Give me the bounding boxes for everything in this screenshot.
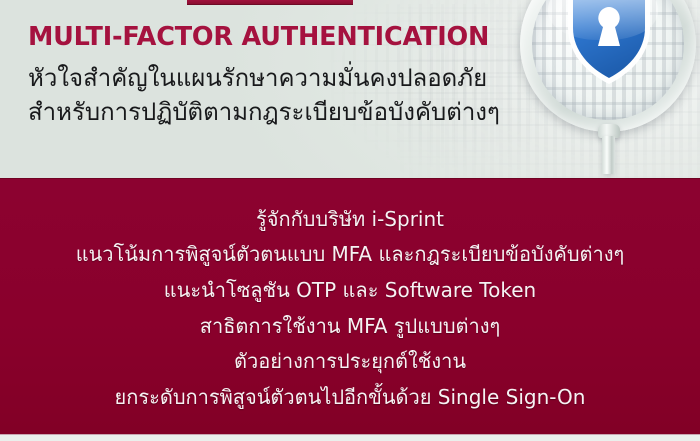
- magnifying-glass-icon: [520, 0, 696, 132]
- agenda-item: แนวโน้มการพิสูจน์ตัวตนแบบ MFA และกฎระเบี…: [76, 237, 625, 273]
- shield-keyhole-icon: [566, 0, 652, 86]
- agenda-section: รู้จักกับบริษัท i-Sprint แนวโน้มการพิสูจ…: [0, 178, 700, 434]
- subtitle-line-1: หัวใจสำคัญในแผนรักษาความมั่นคงปลอดภัย: [28, 61, 528, 95]
- agenda-item: รู้จักกับบริษัท i-Sprint: [256, 202, 444, 238]
- headline-block: MULTI-FACTOR AUTHENTICATION หัวใจสำคัญใน…: [28, 24, 528, 129]
- bottom-strip: [0, 434, 700, 441]
- agenda-item: สาธิตการใช้งาน MFA รูปแบบต่างๆ: [200, 309, 501, 345]
- hero-section: MULTI-FACTOR AUTHENTICATION หัวใจสำคัญใน…: [0, 0, 700, 178]
- subtitle-line-2: สำหรับการปฏิบัติตามกฎระเบียบข้อบังคับต่า…: [28, 95, 528, 129]
- presentation-slide: MULTI-FACTOR AUTHENTICATION หัวใจสำคัญใน…: [0, 0, 700, 441]
- agenda-item: แนะนำโซลูชัน OTP และ Software Token: [164, 273, 536, 309]
- agenda-item: ตัวอย่างการประยุกต์ใช้งาน: [234, 344, 466, 380]
- page-title: MULTI-FACTOR AUTHENTICATION: [28, 24, 528, 51]
- agenda-item: ยกระดับการพิสูจน์ตัวตนไปอีกขั้นด้วย Sing…: [115, 380, 586, 416]
- lens-glass: [532, 0, 684, 120]
- top-red-rule: [187, 0, 353, 5]
- magnifier-handle: [602, 136, 615, 174]
